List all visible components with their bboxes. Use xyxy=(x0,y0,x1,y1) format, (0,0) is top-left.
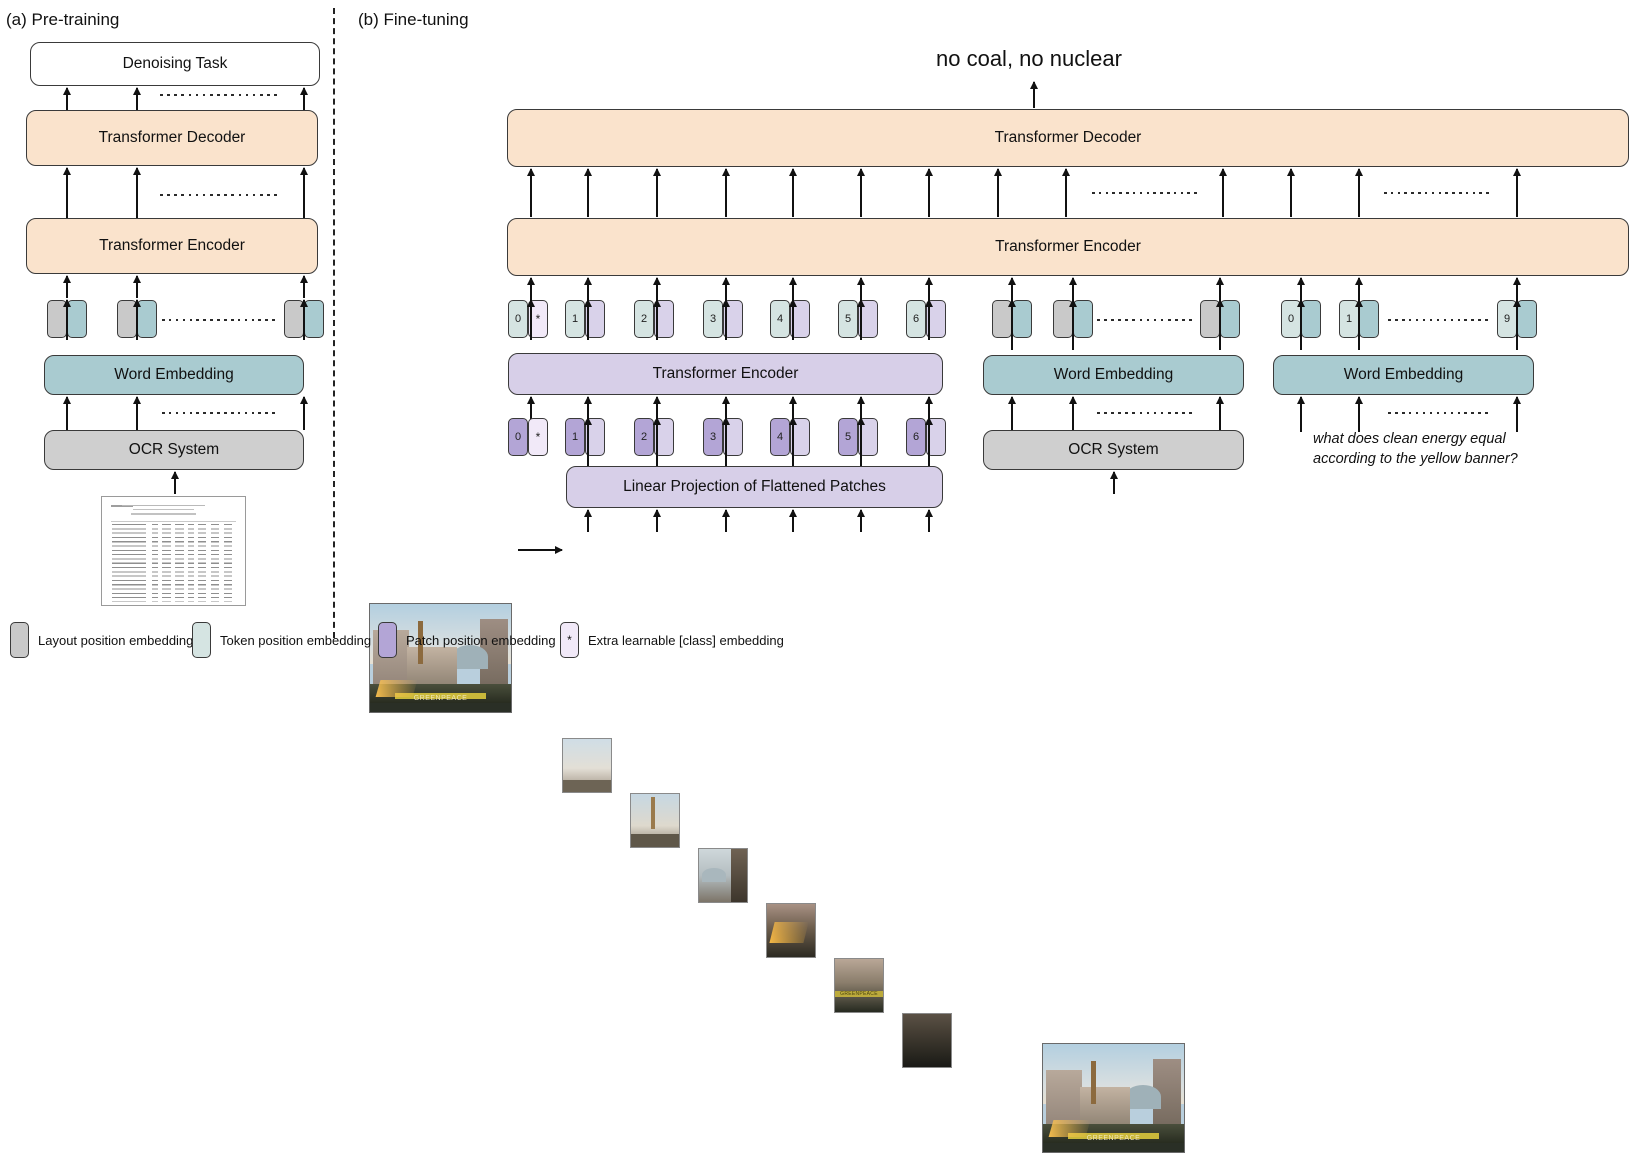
finetune-word-embedding-ocr: Word Embedding xyxy=(983,355,1244,395)
arrow-lp-to-patch-2 xyxy=(656,418,658,466)
finetune-word-embedding-question: Word Embedding xyxy=(1273,355,1534,395)
arrow-decoder-to-answer xyxy=(1033,82,1035,108)
arrow-ocr-to-wordemb-1 xyxy=(66,397,68,430)
arrow-tok-to-fe-13 xyxy=(1516,278,1518,300)
question-text: what does clean energy equal according t… xyxy=(1313,429,1563,469)
finetune-transformer-decoder: Transformer Decoder xyxy=(507,109,1629,167)
arrow-decoder-to-task-1 xyxy=(66,88,68,110)
image-patch-3 xyxy=(698,848,748,903)
finetune-ocr-system: OCR System xyxy=(983,430,1244,470)
panel-b-title: (b) Fine-tuning xyxy=(358,10,469,30)
arrow-fe-to-fd-8 xyxy=(997,169,999,217)
arrow-question-to-we-2 xyxy=(1358,397,1360,432)
image-patch-2 xyxy=(630,793,680,848)
photo-caption: GREENPEACE xyxy=(370,695,511,702)
arrow-encoder-to-decoder-3 xyxy=(303,168,305,218)
legend-item-token: Token position embedding xyxy=(192,622,371,658)
arrow-patchtok-to-ve-2 xyxy=(587,397,589,419)
finetune-transformer-encoder: Transformer Encoder xyxy=(507,218,1629,276)
patch-index-cell: 3 xyxy=(703,418,723,456)
arrow-we-to-tok-3 xyxy=(1219,300,1221,350)
arrow-fe-to-fd-9 xyxy=(1065,169,1067,217)
arrow-ve-to-tok-7 xyxy=(928,300,930,340)
arrow-ocr-to-we-1 xyxy=(1011,397,1013,430)
denoising-task-box: Denoising Task xyxy=(30,42,320,86)
pretrain-word-embedding: Word Embedding xyxy=(44,355,304,395)
arrow-ocr-to-we-2 xyxy=(1072,397,1074,430)
patch-index-cell: 1 xyxy=(565,418,585,456)
token-index-cell: 6 xyxy=(906,300,926,338)
finetune-answer-text: no coal, no nuclear xyxy=(936,46,1122,72)
legend-swatch-token xyxy=(192,622,211,658)
arrow-patchtok-to-ve-6 xyxy=(860,397,862,419)
arrow-lp-to-patch-6 xyxy=(928,418,930,466)
token-index-cell: 4 xyxy=(770,300,790,338)
arrow-ve-to-tok-1 xyxy=(530,300,532,340)
finetune-source-photo-ocr: GREENPEACE xyxy=(1042,1043,1185,1153)
pretrain-transformer-encoder: Transformer Encoder xyxy=(26,218,318,274)
arrow-wordemb-to-token-2 xyxy=(136,300,138,340)
arrow-we-to-tok-1 xyxy=(1011,300,1013,350)
ellipsis-fe-fd-2 xyxy=(1384,191,1489,195)
arrow-patchimg-to-lp-3 xyxy=(725,510,727,532)
arrow-decoder-to-task-3 xyxy=(303,88,305,110)
arrow-fe-to-fd-5 xyxy=(792,169,794,217)
arrow-fe-to-fd-12 xyxy=(1358,169,1360,217)
arrow-tok-to-fe-8 xyxy=(1011,278,1013,300)
class-embedding-cell: * xyxy=(528,418,548,456)
arrow-question-to-we-1 xyxy=(1300,397,1302,432)
patch-embed-0: 0 * xyxy=(508,418,548,456)
arrow-ve-to-tok-5 xyxy=(792,300,794,340)
token-index-cell: 3 xyxy=(703,300,723,338)
arrow-ve-to-tok-4 xyxy=(725,300,727,340)
arrow-patchtok-to-ve-1 xyxy=(530,397,532,419)
token-index-cell: 0 xyxy=(508,300,528,338)
arrow-fe-to-fd-3 xyxy=(656,169,658,217)
token-index-cell: 2 xyxy=(634,300,654,338)
arrow-tok-to-fe-6 xyxy=(860,278,862,300)
arrow-ocr-to-wordemb-3 xyxy=(303,397,305,430)
arrow-qwe-to-tok-2 xyxy=(1358,300,1360,350)
arrow-lp-to-patch-4 xyxy=(792,418,794,466)
arrow-token-to-encoder-3 xyxy=(303,276,305,298)
arrow-tok-to-fe-4 xyxy=(725,278,727,300)
pretrain-document-image xyxy=(101,496,246,606)
patch-index-cell: 0 xyxy=(508,418,528,456)
token-index-cell: 5 xyxy=(838,300,858,338)
arrow-patchimg-to-lp-1 xyxy=(587,510,589,532)
arrow-fe-to-fd-6 xyxy=(860,169,862,217)
arrow-tok-to-fe-3 xyxy=(656,278,658,300)
arrow-fe-to-fd-4 xyxy=(725,169,727,217)
arrow-patchtok-to-ve-4 xyxy=(725,397,727,419)
arrow-ve-to-tok-2 xyxy=(587,300,589,340)
legend-label-token: Token position embedding xyxy=(220,633,371,648)
legend-swatch-layout xyxy=(10,622,29,658)
ellipsis-pretrain-tokens xyxy=(162,318,275,322)
ellipsis-question-tokens xyxy=(1388,318,1488,322)
arrow-we-to-tok-2 xyxy=(1072,300,1074,350)
arrow-token-to-encoder-2 xyxy=(136,276,138,298)
arrow-ocr-to-we-3 xyxy=(1219,397,1221,430)
arrow-tok-to-fe-2 xyxy=(587,278,589,300)
arrow-photo-to-ocr xyxy=(1113,472,1115,494)
token-index-cell: 1 xyxy=(565,300,585,338)
ellipsis-finetune-ocr-we xyxy=(1097,411,1192,415)
arrow-wordemb-to-token-1 xyxy=(66,300,68,340)
legend-label-layout: Layout position embedding xyxy=(38,633,193,648)
image-patch-1 xyxy=(562,738,612,793)
arrow-tok-to-fe-11 xyxy=(1300,278,1302,300)
pretrain-ocr-system: OCR System xyxy=(44,430,304,470)
image-patch-4 xyxy=(766,903,816,958)
ellipsis-encoder-decoder xyxy=(160,193,277,197)
arrow-patchtok-to-ve-7 xyxy=(928,397,930,419)
arrow-patchimg-to-lp-4 xyxy=(792,510,794,532)
arrow-fe-to-fd-2 xyxy=(587,169,589,217)
ellipsis-ocr-wordemb xyxy=(162,411,275,415)
arrow-tok-to-fe-12 xyxy=(1358,278,1360,300)
arrow-ve-to-tok-6 xyxy=(860,300,862,340)
finetune-source-photo-vision: GREENPEACE xyxy=(369,603,512,713)
legend-swatch-patch xyxy=(378,622,397,658)
ellipsis-decoder-task xyxy=(160,93,277,97)
panel-divider xyxy=(333,8,335,638)
arrow-wordemb-to-token-3 xyxy=(303,300,305,340)
arrow-encoder-to-decoder-2 xyxy=(136,168,138,218)
arrow-fe-to-fd-1 xyxy=(530,169,532,217)
patch-index-cell: 5 xyxy=(838,418,858,456)
patch-index-cell: 2 xyxy=(634,418,654,456)
arrow-photo-to-patches xyxy=(518,549,562,551)
arrow-ocr-to-wordemb-2 xyxy=(136,397,138,430)
arrow-question-to-we-3 xyxy=(1516,397,1518,432)
arrow-tok-to-fe-7 xyxy=(928,278,930,300)
arrow-patchimg-to-lp-2 xyxy=(656,510,658,532)
legend-swatch-class: * xyxy=(560,622,579,658)
arrow-encoder-to-decoder-1 xyxy=(66,168,68,218)
arrow-fe-to-fd-13 xyxy=(1516,169,1518,217)
legend-item-layout: Layout position embedding xyxy=(10,622,193,658)
arrow-patchimg-to-lp-5 xyxy=(860,510,862,532)
panel-a-title: (a) Pre-training xyxy=(6,10,119,30)
legend-label-patch: Patch position embedding xyxy=(406,633,556,648)
photo-caption: GREENPEACE xyxy=(1043,1135,1184,1142)
arrow-token-to-encoder-1 xyxy=(66,276,68,298)
ellipsis-question-we xyxy=(1388,411,1488,415)
image-patch-5: GREENPEACE xyxy=(834,958,884,1013)
arrow-lp-to-patch-3 xyxy=(725,418,727,466)
arrow-tok-to-fe-10 xyxy=(1219,278,1221,300)
arrow-qwe-to-tok-1 xyxy=(1300,300,1302,350)
pretrain-transformer-decoder: Transformer Decoder xyxy=(26,110,318,166)
legend-label-class: Extra learnable [class] embedding xyxy=(588,633,784,648)
arrow-lp-to-patch-5 xyxy=(860,418,862,466)
legend-item-patch: Patch position embedding xyxy=(378,622,556,658)
arrow-tok-to-fe-5 xyxy=(792,278,794,300)
legend-item-class: * Extra learnable [class] embedding xyxy=(560,622,784,658)
arrow-fe-to-fd-10 xyxy=(1222,169,1224,217)
arrow-patchtok-to-ve-5 xyxy=(792,397,794,419)
arrow-tok-to-fe-1 xyxy=(530,278,532,300)
arrow-ve-to-tok-3 xyxy=(656,300,658,340)
arrow-patchimg-to-lp-6 xyxy=(928,510,930,532)
image-patch-6 xyxy=(902,1013,952,1068)
arrow-qwe-to-tok-3 xyxy=(1516,300,1518,350)
ellipsis-finetune-ocr-tokens xyxy=(1097,318,1192,322)
arrow-fe-to-fd-11 xyxy=(1290,169,1292,217)
linear-projection-box: Linear Projection of Flattened Patches xyxy=(566,466,943,508)
arrow-doc-to-ocr xyxy=(174,472,176,494)
arrow-fe-to-fd-7 xyxy=(928,169,930,217)
arrow-patchtok-to-ve-3 xyxy=(656,397,658,419)
patch-index-cell: 4 xyxy=(770,418,790,456)
patch-index-cell: 6 xyxy=(906,418,926,456)
arrow-decoder-to-task-2 xyxy=(136,88,138,110)
ellipsis-fe-fd-1 xyxy=(1092,191,1197,195)
arrow-lp-to-patch-1 xyxy=(587,418,589,466)
arrow-tok-to-fe-9 xyxy=(1072,278,1074,300)
vision-transformer-encoder: Transformer Encoder xyxy=(508,353,943,395)
